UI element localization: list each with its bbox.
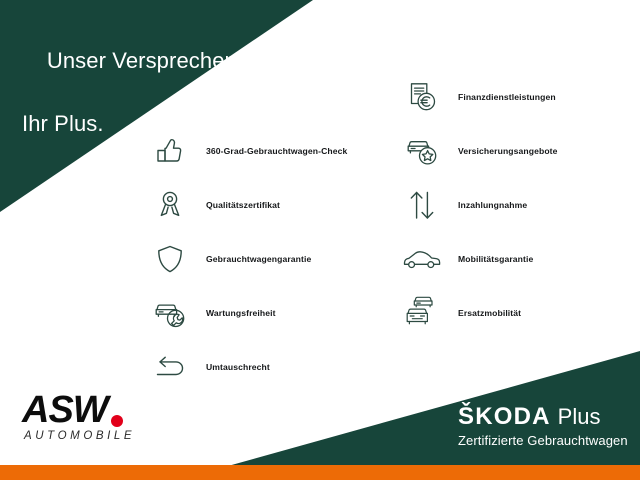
u-turn-arrow-icon [144,344,196,390]
asw-wordmark-text: ASW [22,391,108,429]
orange-bottom-bar [0,465,640,480]
promo-banner: Unser Versprechen. Ihr Plus. 360-Grad-Ge… [0,0,640,480]
feature-item-used-car-warranty: Gebrauchtwagengarantie [144,232,347,286]
feature-item-quality-certificate: Qualitätszertifikat [144,178,347,232]
asw-red-dot-icon [111,415,123,427]
skoda-plus-label: Plus [558,406,601,428]
feature-item-financial-services: Finanzdienstleistungen [396,70,558,124]
feature-label: Versicherungsangebote [458,146,558,156]
feature-item-replacement-mobility: Ersatzmobilität [396,286,558,340]
two-cars-icon [396,290,448,336]
feature-label: Umtauschrecht [206,362,270,372]
feature-label: Inzahlungnahme [458,200,527,210]
asw-subtitle: AUTOMOBILE [24,430,135,442]
award-rosette-icon [144,182,196,228]
document-euro-icon [396,74,448,120]
feature-label: 360-Grad-Gebrauchtwagen-Check [206,146,347,156]
headline-line-1: Unser Versprechen. [47,48,243,73]
feature-item-trade-in: Inzahlungnahme [396,178,558,232]
feature-item-mobility-guarantee: Mobilitätsgarantie [396,232,558,286]
skoda-subtitle: Zertifizierte Gebrauchtwagen [458,433,628,448]
feature-label: Qualitätszertifikat [206,200,280,210]
car-star-icon [396,128,448,174]
feature-item-360-check: 360-Grad-Gebrauchtwagen-Check [144,124,347,178]
feature-label: Gebrauchtwagengarantie [206,254,311,264]
car-wrench-icon [144,290,196,336]
feature-label: Finanzdienstleistungen [458,92,556,102]
feature-item-exchange-right: Umtauschrecht [144,340,347,394]
skoda-wordmark: ŠKODA [458,405,551,429]
thumbs-up-icon [144,128,196,174]
feature-list-left: 360-Grad-Gebrauchtwagen-Check Qualitätsz… [144,124,347,394]
feature-item-insurance-offers: Versicherungsangebote [396,124,558,178]
asw-wordmark: ASW [22,391,135,429]
feature-label: Mobilitätsgarantie [458,254,533,264]
up-down-arrows-icon [396,182,448,228]
feature-label: Ersatzmobilität [458,308,521,318]
shield-icon [144,236,196,282]
feature-item-maintenance-free: Wartungsfreiheit [144,286,347,340]
feature-label: Wartungsfreiheit [206,308,276,318]
skoda-plus-logo: ŠKODA Plus Zertifizierte Gebrauchtwagen [458,405,628,448]
car-side-icon [396,236,448,282]
skoda-wordmark-row: ŠKODA Plus [458,405,628,429]
asw-logo: ASW AUTOMOBILE [22,391,135,442]
feature-list-right: Finanzdienstleistungen Versicherungsange… [396,70,558,340]
